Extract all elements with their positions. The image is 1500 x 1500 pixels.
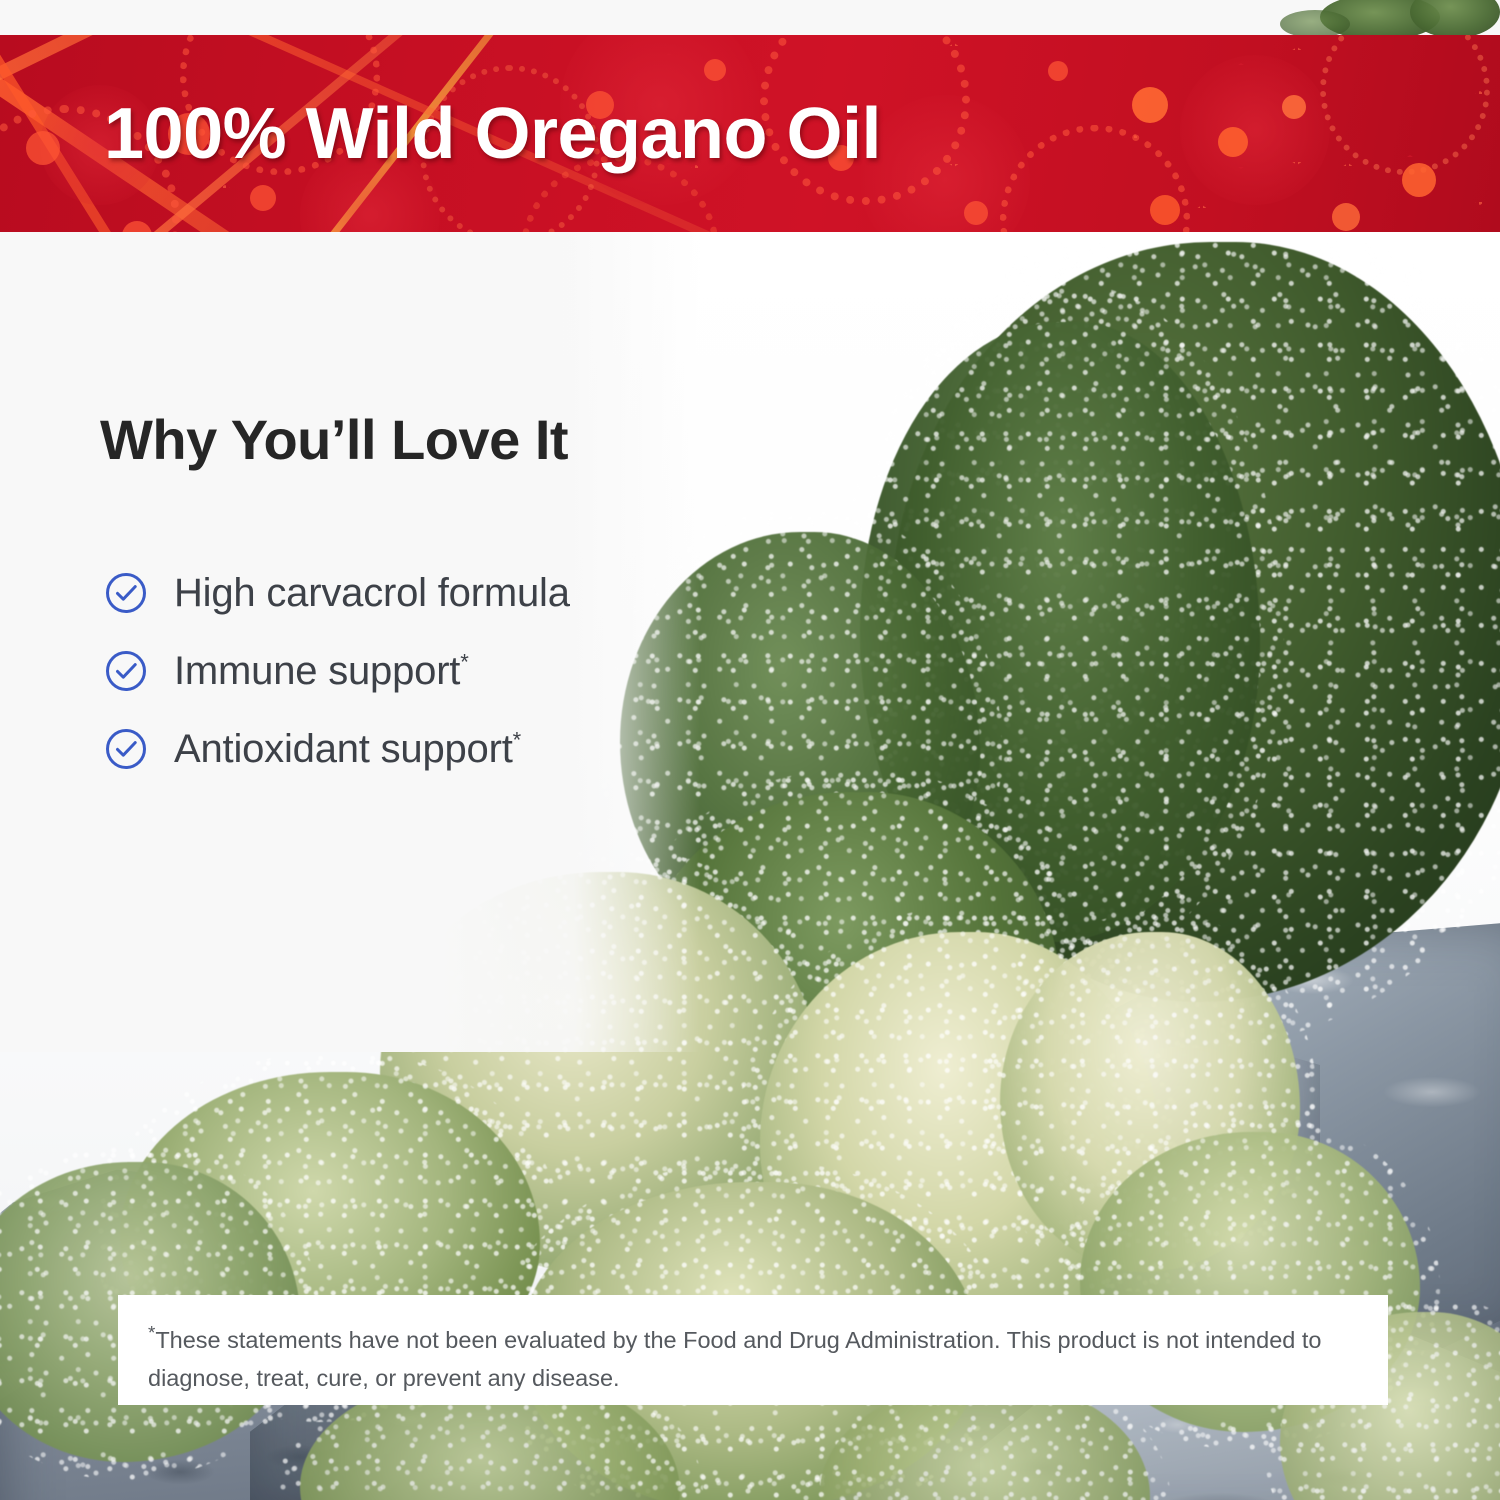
benefit-footnote-1: * xyxy=(460,649,468,674)
list-item: Antioxidant support* xyxy=(104,710,570,788)
benefit-text-1: Immune support xyxy=(174,649,460,693)
banner-atom-dot-10 xyxy=(1282,95,1306,119)
banner-atom-dot-12 xyxy=(1332,203,1360,231)
benefit-footnote-2: * xyxy=(513,727,521,752)
fda-disclaimer-box: *These statements have not been evaluate… xyxy=(118,1295,1388,1405)
product-marketing-card: 100% Wild Oregano Oil Why You’ll Love It… xyxy=(0,0,1500,1500)
check-circle-icon xyxy=(104,727,148,771)
banner-atom-dot-14 xyxy=(1048,61,1068,81)
check-circle-icon xyxy=(104,571,148,615)
banner-atom-dot-1 xyxy=(26,131,60,165)
page-title: Why You’ll Love It xyxy=(100,407,568,472)
banner-atom-dot-8 xyxy=(1132,87,1168,123)
list-item: Immune support* xyxy=(104,632,570,710)
banner-title: 100% Wild Oregano Oil xyxy=(104,93,881,175)
banner-atom-dot-6 xyxy=(704,59,726,81)
benefit-text-2: Antioxidant support xyxy=(174,727,513,771)
banner-atom-dot-3 xyxy=(250,185,276,211)
list-item: High carvacrol formula xyxy=(104,554,570,632)
list-item-label: Antioxidant support* xyxy=(174,727,521,772)
list-item-label: Immune support* xyxy=(174,649,469,694)
disclaimer-text: *These statements have not been evaluate… xyxy=(148,1321,1358,1397)
benefit-text-0: High carvacrol formula xyxy=(174,571,570,615)
banner-atom-dot-13 xyxy=(964,201,988,225)
benefits-list: High carvacrol formula Immune support* xyxy=(104,554,570,788)
check-circle-icon xyxy=(104,649,148,693)
list-item-label: High carvacrol formula xyxy=(174,571,570,616)
banner-atom-dot-9 xyxy=(1218,127,1248,157)
banner-atom-dot-15 xyxy=(1150,195,1180,225)
disclaimer-body: These statements have not been evaluated… xyxy=(148,1327,1321,1391)
banner-atom-dot-11 xyxy=(1402,163,1436,197)
header-banner: 100% Wild Oregano Oil xyxy=(0,35,1500,232)
oregano-sprig-above-banner-c xyxy=(1280,10,1350,38)
